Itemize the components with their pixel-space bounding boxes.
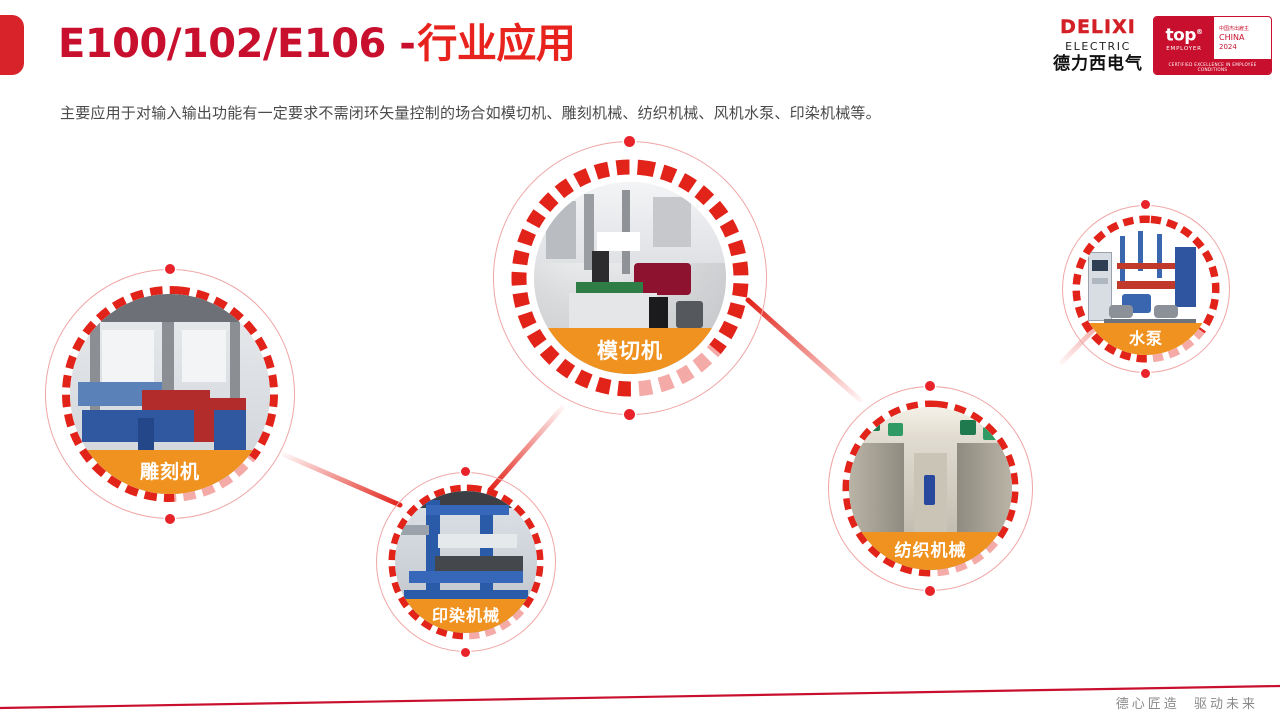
registered-icon: ® xyxy=(1196,28,1203,36)
top-employer-word-text: top xyxy=(1166,25,1196,45)
top-employer-row: top® EMPLOYER 中国杰出雇主 CHINA 2024 xyxy=(1154,17,1271,59)
node-dot-bottom xyxy=(165,514,175,524)
node-dot-top xyxy=(165,264,175,274)
top-employer-year: 2024 xyxy=(1219,43,1271,51)
top-employer-band: CERTIFIED EXCELLENCE IN EMPLOYEE CONDITI… xyxy=(1154,59,1271,74)
top-employer-cn: 中国杰出雇主 xyxy=(1219,25,1271,32)
node-dot-bottom xyxy=(1141,369,1150,378)
node-dot-bottom xyxy=(624,409,635,420)
top-employer-details: 中国杰出雇主 CHINA 2024 xyxy=(1214,17,1271,59)
node-dyeing[interactable]: 印染机械 xyxy=(376,472,556,652)
node-textile[interactable]: 纺织机械 xyxy=(828,386,1033,591)
node-photo: 模切机 xyxy=(534,182,726,374)
page-title-cjk: 行业应用 xyxy=(417,21,575,67)
page-title-separator: - xyxy=(386,21,416,67)
node-photo: 雕刻机 xyxy=(70,294,270,494)
node-photo: 纺织机械 xyxy=(849,407,1012,570)
footer-divider xyxy=(0,660,1280,720)
delixi-logo: DELIXI ELECTRIC 德力西电气 xyxy=(1053,18,1143,73)
node-dot-bottom xyxy=(925,586,935,596)
title-accent-tab xyxy=(0,15,24,75)
footer-slogan-left: 德心匠造 xyxy=(1116,697,1180,712)
slide-root: E100/102/E106 -行业应用 主要应用于对输入输出功能有一定要求不需闭… xyxy=(0,0,1280,720)
scene-green-bobbin xyxy=(862,417,880,432)
footer-slogan-right: 驱动未来 xyxy=(1194,697,1258,712)
scene-heat-exchanger xyxy=(1175,247,1196,308)
scene-ceiling xyxy=(70,294,270,322)
top-employer-country: CHINA xyxy=(1219,33,1271,42)
logo-zone: DELIXI ELECTRIC 德力西电气 top® EMPLOYER 中国杰出… xyxy=(1053,16,1272,75)
scene-right-spindles xyxy=(957,443,1012,534)
top-employer-badge: top® EMPLOYER 中国杰出雇主 CHINA 2024 CERTIFIE… xyxy=(1153,16,1272,75)
node-label-textile: 纺织机械 xyxy=(849,532,1012,570)
delixi-brand-sub: ELECTRIC xyxy=(1065,41,1131,52)
node-label-dyeing: 印染机械 xyxy=(395,599,537,633)
top-employer-word: top® xyxy=(1166,24,1203,44)
node-label-engraving: 雕刻机 xyxy=(70,450,270,494)
node-water-pump[interactable]: 水泵 xyxy=(1062,205,1230,373)
page-title-latin: E100/102/E106 xyxy=(58,21,386,67)
node-label-die-cutting: 模切机 xyxy=(534,328,726,374)
page-subtitle: 主要应用于对输入输出功能有一定要求不需闭环矢量控制的场合如模切机、雕刻机械、纺织… xyxy=(60,102,881,123)
top-employer-mark: top® EMPLOYER xyxy=(1154,17,1214,59)
node-photo: 印染机械 xyxy=(395,491,537,633)
top-employer-employer: EMPLOYER xyxy=(1166,46,1202,52)
scene-cabinet-display xyxy=(1092,260,1108,271)
scene-worker xyxy=(924,475,935,504)
node-dot-top xyxy=(624,136,635,147)
delixi-brand: DELIXI xyxy=(1060,18,1136,37)
node-die-cutting[interactable]: 模切机 xyxy=(493,141,767,415)
page-title: E100/102/E106 -行业应用 xyxy=(58,18,575,70)
footer-slogan: 德心匠造 驱动未来 xyxy=(1116,693,1258,712)
node-dot-top xyxy=(1141,200,1150,209)
node-engraving[interactable]: 雕刻机 xyxy=(45,269,295,519)
node-photo: 水泵 xyxy=(1080,223,1212,355)
delixi-brand-cn: 德力西电气 xyxy=(1053,56,1143,73)
scene-red-pipe xyxy=(1117,263,1175,270)
scene-left-spindles xyxy=(849,443,904,534)
node-dot-top xyxy=(461,467,470,476)
node-label-water-pump: 水泵 xyxy=(1080,323,1212,355)
node-dot-bottom xyxy=(461,648,470,657)
node-dot-top xyxy=(925,381,935,391)
footer-red-line xyxy=(0,686,1280,708)
